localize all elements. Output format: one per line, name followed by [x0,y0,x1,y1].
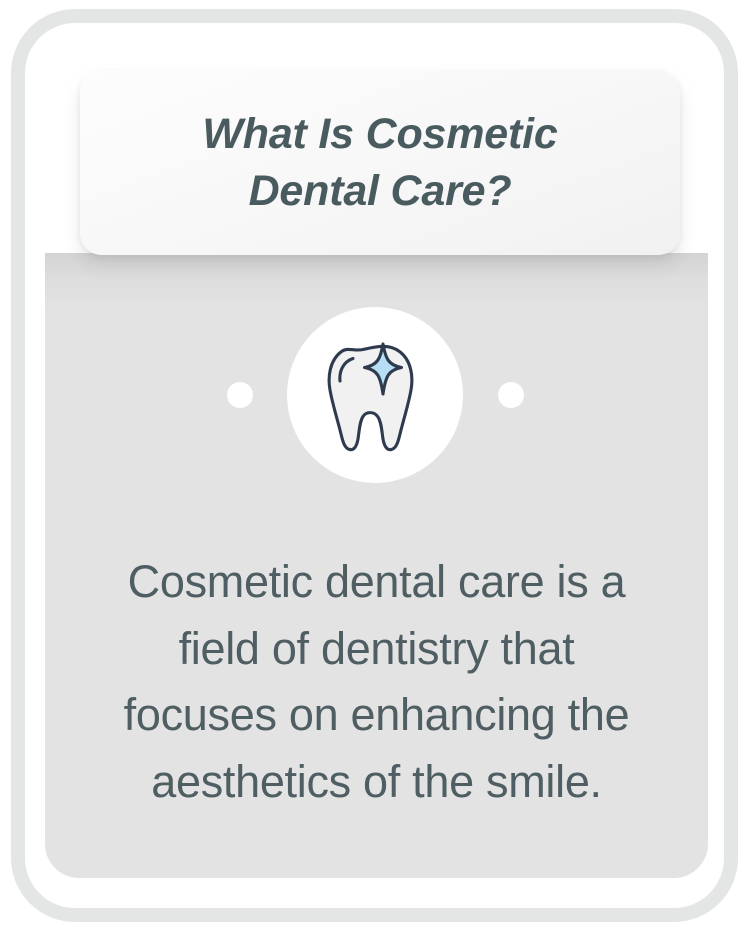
icon-row [45,307,708,483]
decorative-left-dot [227,382,253,408]
sparkling-tooth-icon [321,336,429,454]
card-viewport: Cosmetic dental care is a field of denti… [0,0,749,930]
content-panel: Cosmetic dental care is a field of denti… [45,253,708,878]
card-body-text: Cosmetic dental care is a field of denti… [85,549,668,815]
icon-circle-badge [287,307,463,483]
title-card: What Is Cosmetic Dental Care? [80,70,680,255]
panel-top-shadow [45,253,708,313]
card-title: What Is Cosmetic Dental Care? [202,106,557,220]
decorative-right-dot [498,382,524,408]
